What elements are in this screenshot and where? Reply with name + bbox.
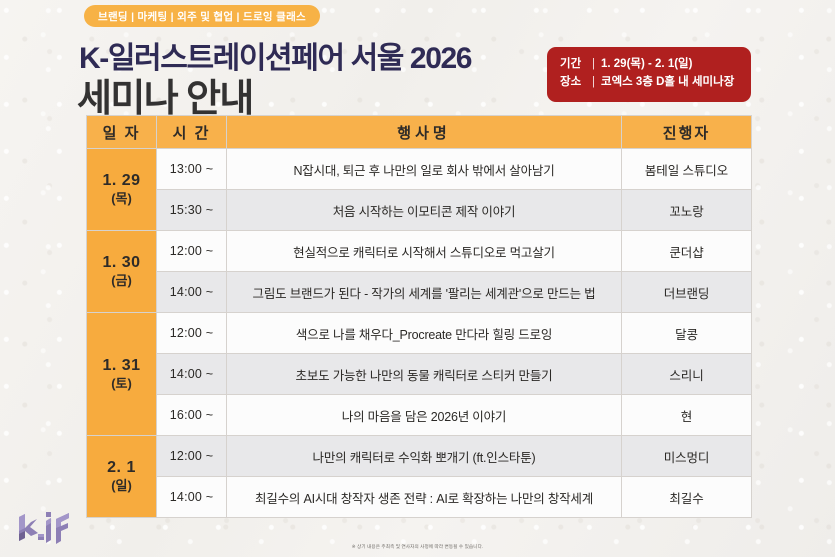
category-badge: 브랜딩 | 마케팅 | 외주 및 협업 | 드로잉 클래스	[84, 5, 320, 27]
time-cell: 14:00 ~	[157, 477, 227, 518]
period-value: 1. 29(목) - 2. 1(일)	[601, 56, 692, 74]
schedule-table-container: 일 자 시 간 행사명 진행자 1. 29(목)13:00 ~N잡시대, 퇴근 …	[86, 115, 751, 518]
time-cell: 12:00 ~	[157, 313, 227, 354]
event-name-cell: 색으로 나를 채우다_Procreate 만다라 힐링 드로잉	[227, 313, 622, 354]
event-name-cell: 그림도 브랜드가 된다 - 작가의 세계를 '팔리는 세계관'으로 만드는 법	[227, 272, 622, 313]
table-body: 1. 29(목)13:00 ~N잡시대, 퇴근 후 나만의 일로 회사 밖에서 …	[87, 149, 752, 518]
category-badge-label: 브랜딩 | 마케팅 | 외주 및 협업 | 드로잉 클래스	[98, 9, 306, 24]
table-row: 2. 1(일)12:00 ~나만의 캐릭터로 수익화 뽀개기 (ft.인스타툰)…	[87, 436, 752, 477]
event-name-cell: 나의 마음을 담은 2026년 이야기	[227, 395, 622, 436]
time-cell: 13:00 ~	[157, 149, 227, 190]
table-row: 1. 31(토)12:00 ~색으로 나를 채우다_Procreate 만다라 …	[87, 313, 752, 354]
info-row-period: 기간 | 1. 29(목) - 2. 1(일)	[560, 56, 738, 74]
date-number: 1. 29	[87, 171, 156, 191]
time-cell: 14:00 ~	[157, 354, 227, 395]
host-cell: 스리니	[622, 354, 752, 395]
time-cell: 16:00 ~	[157, 395, 227, 436]
date-cell: 1. 30(금)	[87, 231, 157, 313]
venue-label: 장소	[560, 74, 590, 92]
date-cell: 1. 31(토)	[87, 313, 157, 436]
seminar-poster: 브랜딩 | 마케팅 | 외주 및 협업 | 드로잉 클래스 K-일러스트레이션페…	[0, 0, 835, 557]
date-cell: 1. 29(목)	[87, 149, 157, 231]
column-header-event: 행사명	[227, 116, 622, 149]
venue-separator: |	[592, 74, 595, 92]
host-cell: 최길수	[622, 477, 752, 518]
table-row: 14:00 ~최길수의 AI시대 창작자 생존 전략 : AI로 확장하는 나만…	[87, 477, 752, 518]
date-weekday: (금)	[87, 273, 156, 289]
page-title: 세미나 안내	[77, 67, 253, 122]
table-row: 1. 29(목)13:00 ~N잡시대, 퇴근 후 나만의 일로 회사 밖에서 …	[87, 149, 752, 190]
venue-value: 코엑스 3층 D홀 내 세미나장	[601, 74, 734, 92]
table-row: 16:00 ~나의 마음을 담은 2026년 이야기현	[87, 395, 752, 436]
date-number: 1. 30	[87, 253, 156, 273]
date-weekday: (토)	[87, 376, 156, 392]
event-name-cell: 최길수의 AI시대 창작자 생존 전략 : AI로 확장하는 나만의 창작세계	[227, 477, 622, 518]
schedule-table: 일 자 시 간 행사명 진행자 1. 29(목)13:00 ~N잡시대, 퇴근 …	[86, 115, 752, 518]
event-info-box: 기간 | 1. 29(목) - 2. 1(일) 장소 | 코엑스 3층 D홀 내…	[547, 47, 751, 102]
host-cell: 미스멍디	[622, 436, 752, 477]
column-header-time: 시 간	[157, 116, 227, 149]
date-cell: 2. 1(일)	[87, 436, 157, 518]
event-name-cell: 나만의 캐릭터로 수익화 뽀개기 (ft.인스타툰)	[227, 436, 622, 477]
time-cell: 12:00 ~	[157, 231, 227, 272]
host-cell: 달콩	[622, 313, 752, 354]
column-header-host: 진행자	[622, 116, 752, 149]
date-number: 2. 1	[87, 458, 156, 478]
event-name-cell: 현실적으로 캐릭터로 시작해서 스튜디오로 먹고살기	[227, 231, 622, 272]
kif-logo	[13, 507, 75, 547]
time-cell: 14:00 ~	[157, 272, 227, 313]
period-separator: |	[592, 56, 595, 74]
event-name-cell: 초보도 가능한 나만의 동물 캐릭터로 스티커 만들기	[227, 354, 622, 395]
host-cell: 현	[622, 395, 752, 436]
event-name-cell: N잡시대, 퇴근 후 나만의 일로 회사 밖에서 살아남기	[227, 149, 622, 190]
footnote-text: ※ 상기 내용은 주최측 및 연사자의 사정에 따라 변동될 수 있습니다.	[0, 544, 835, 550]
table-header: 일 자 시 간 행사명 진행자	[87, 116, 752, 149]
info-row-venue: 장소 | 코엑스 3층 D홀 내 세미나장	[560, 74, 738, 92]
host-cell: 봄테일 스튜디오	[622, 149, 752, 190]
event-name-cell: 처음 시작하는 이모티콘 제작 이야기	[227, 190, 622, 231]
host-cell: 쿤더샵	[622, 231, 752, 272]
host-cell: 꼬노랑	[622, 190, 752, 231]
time-cell: 15:30 ~	[157, 190, 227, 231]
host-cell: 더브랜딩	[622, 272, 752, 313]
table-row: 14:00 ~초보도 가능한 나만의 동물 캐릭터로 스티커 만들기스리니	[87, 354, 752, 395]
date-weekday: (일)	[87, 478, 156, 494]
time-cell: 12:00 ~	[157, 436, 227, 477]
table-row: 15:30 ~처음 시작하는 이모티콘 제작 이야기꼬노랑	[87, 190, 752, 231]
table-header-row: 일 자 시 간 행사명 진행자	[87, 116, 752, 149]
date-weekday: (목)	[87, 191, 156, 207]
column-header-date: 일 자	[87, 116, 157, 149]
table-row: 14:00 ~그림도 브랜드가 된다 - 작가의 세계를 '팔리는 세계관'으로…	[87, 272, 752, 313]
date-number: 1. 31	[87, 356, 156, 376]
period-label: 기간	[560, 56, 590, 74]
table-row: 1. 30(금)12:00 ~현실적으로 캐릭터로 시작해서 스튜디오로 먹고살…	[87, 231, 752, 272]
